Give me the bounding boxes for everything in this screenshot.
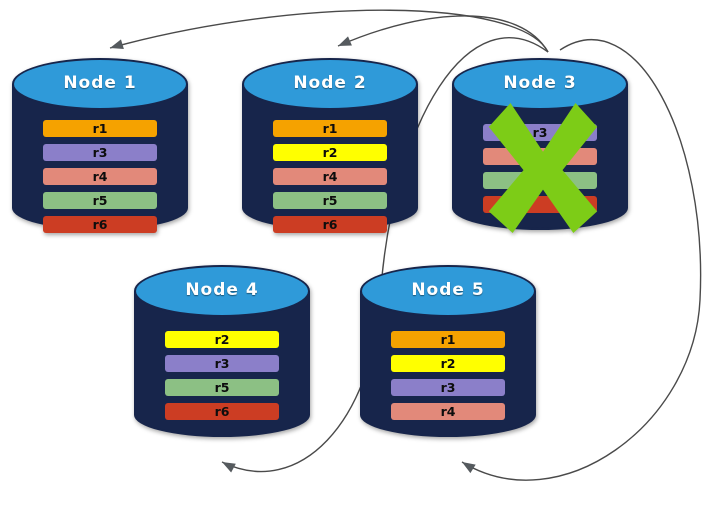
replica-bar[interactable]: r6 — [43, 216, 157, 233]
replica-list: r1r3r4r5r6 — [12, 120, 188, 240]
arrow-head — [109, 39, 124, 52]
node-label: Node 2 — [293, 73, 366, 93]
replica-bar[interactable]: r4 — [273, 168, 387, 185]
replica-bar[interactable] — [483, 148, 597, 165]
edge-node3-to-node2 — [336, 16, 548, 52]
cylinder-top: Node 4 — [134, 265, 310, 317]
database-node-4[interactable]: Node 4r2r3r5r6 — [134, 265, 310, 437]
replica-bar[interactable]: r2 — [391, 355, 505, 372]
replica-bar[interactable]: r6 — [273, 216, 387, 233]
database-node-5[interactable]: Node 5r1r2r3r4 — [360, 265, 536, 437]
replica-list: r1r2r4r5r6 — [242, 120, 418, 240]
replica-bar[interactable] — [483, 172, 597, 189]
replica-bar[interactable]: r5 — [165, 379, 279, 396]
database-node-2[interactable]: Node 2r1r2r4r5r6 — [242, 58, 418, 230]
database-node-3[interactable]: Node 3r3 — [452, 58, 628, 230]
replica-list: r1r2r3r4 — [360, 331, 536, 427]
replica-bar[interactable]: r3 — [483, 124, 597, 141]
node-label: Node 1 — [63, 73, 136, 93]
replica-bar[interactable]: r3 — [165, 355, 279, 372]
replica-list: r3 — [452, 124, 628, 220]
cylinder-top: Node 2 — [242, 58, 418, 110]
replica-bar[interactable]: r4 — [391, 403, 505, 420]
replica-bar[interactable]: r3 — [43, 144, 157, 161]
replica-bar[interactable]: r5 — [43, 192, 157, 209]
replica-bar[interactable]: r1 — [273, 120, 387, 137]
database-node-1[interactable]: Node 1r1r3r4r5r6 — [12, 58, 188, 230]
cylinder-top: Node 1 — [12, 58, 188, 110]
replica-bar[interactable]: r5 — [273, 192, 387, 209]
replica-bar[interactable]: r6 — [165, 403, 279, 420]
node-label: Node 3 — [503, 73, 576, 93]
replica-bar[interactable] — [483, 196, 597, 213]
replica-bar[interactable]: r1 — [43, 120, 157, 137]
arrow-head — [459, 458, 475, 473]
node-label: Node 4 — [185, 280, 258, 300]
replica-bar[interactable]: r2 — [165, 331, 279, 348]
cylinder-top: Node 5 — [360, 265, 536, 317]
replica-bar[interactable]: r3 — [391, 379, 505, 396]
cylinder-top: Node 3 — [452, 58, 628, 110]
replica-list: r2r3r5r6 — [134, 331, 310, 427]
arrow-head — [220, 458, 236, 473]
replica-bar[interactable]: r2 — [273, 144, 387, 161]
replica-bar[interactable]: r4 — [43, 168, 157, 185]
diagram-canvas: Node 1r1r3r4r5r6Node 2r1r2r4r5r6Node 3r3… — [0, 0, 708, 508]
node-label: Node 5 — [411, 280, 484, 300]
replica-bar[interactable]: r1 — [391, 331, 505, 348]
arrow-head — [336, 36, 352, 50]
